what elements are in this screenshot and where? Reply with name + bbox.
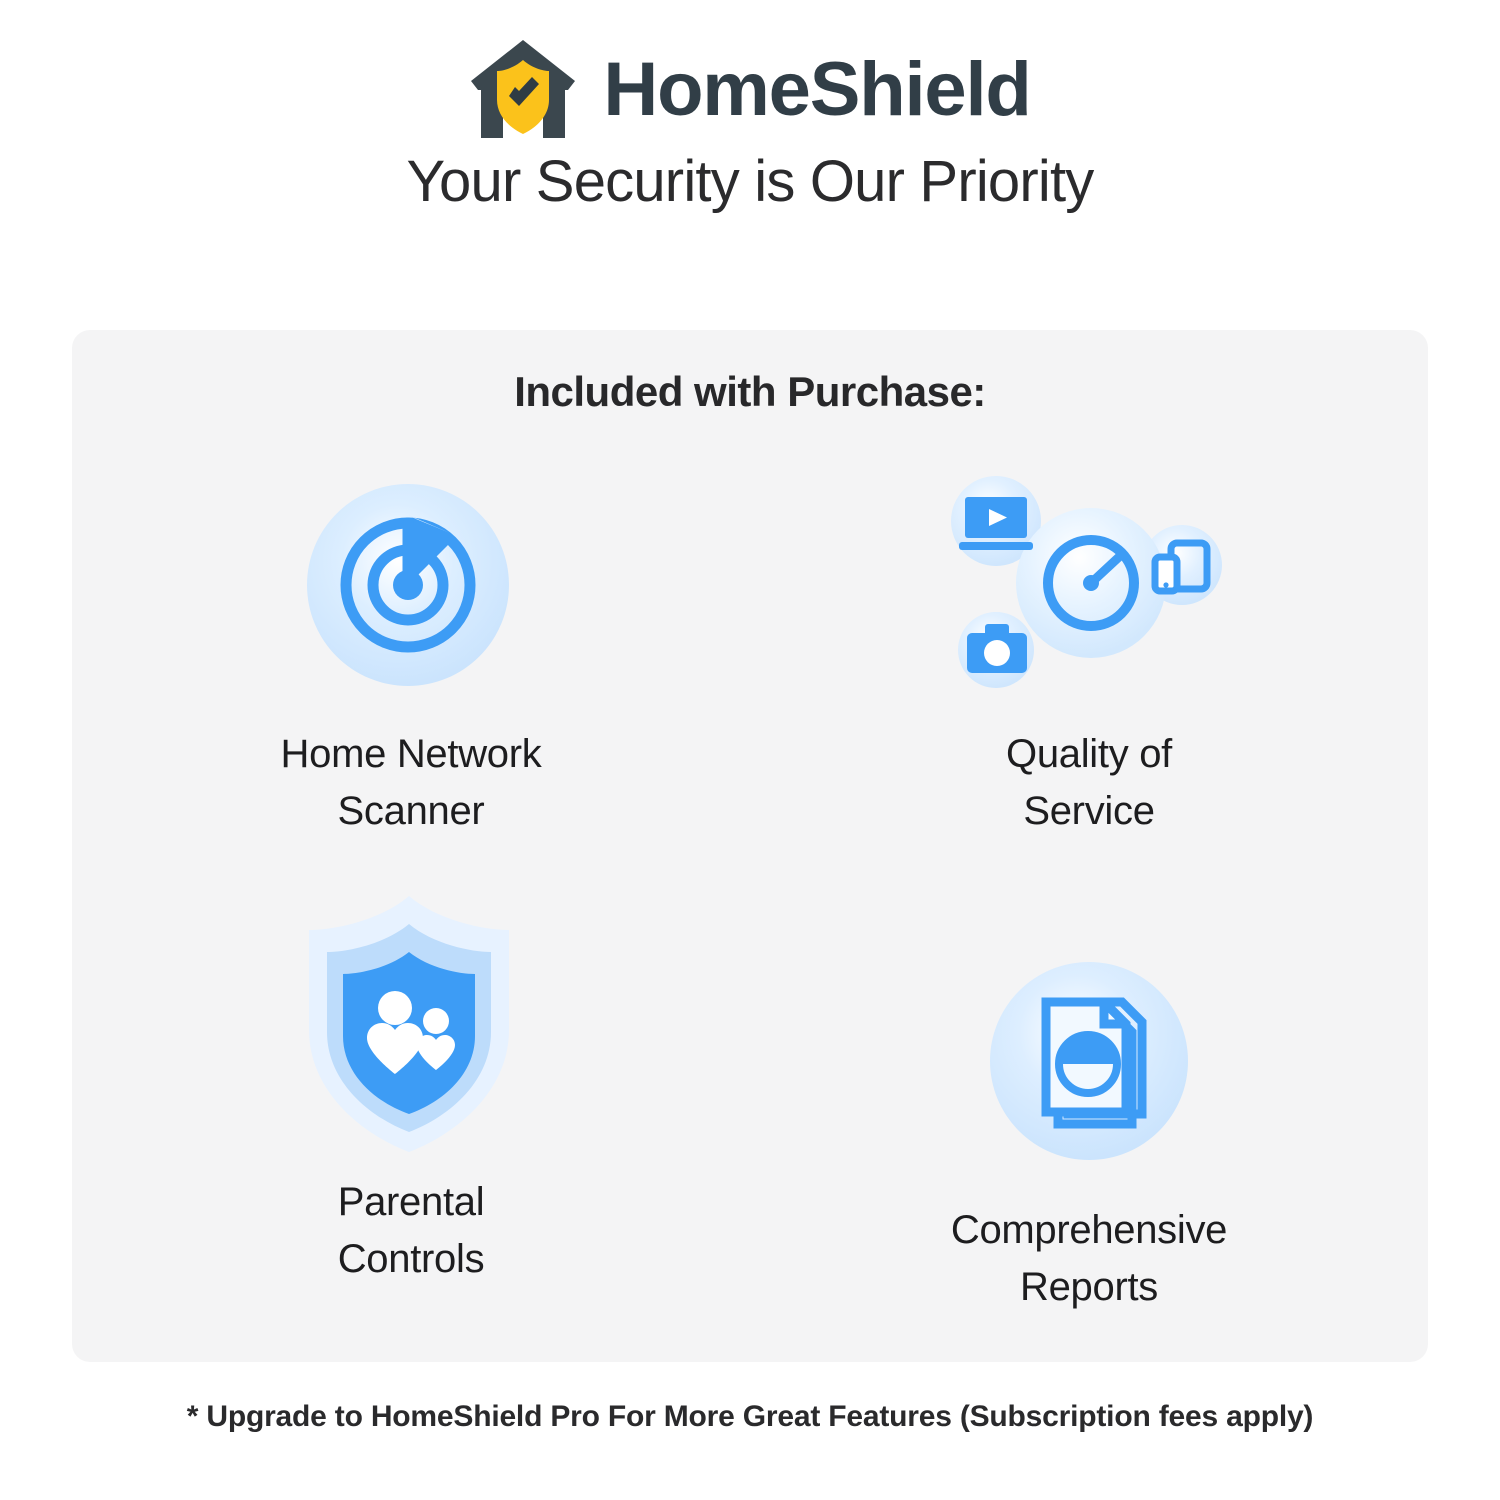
quality-of-service-cluster-icon (919, 460, 1259, 710)
house-shield-check-icon (469, 38, 577, 142)
page-tagline: Your Security is Our Priority (0, 152, 1500, 213)
laptop-video-icon (959, 497, 1033, 550)
features-grid: Home Network Scanner (72, 440, 1428, 1340)
feature-quality-of-service[interactable]: Quality of Service (750, 440, 1428, 890)
radar-scanner-icon (258, 460, 558, 710)
feature-home-network-scanner[interactable]: Home Network Scanner (72, 440, 750, 890)
feature-comprehensive-reports[interactable]: Comprehensive Reports (750, 890, 1428, 1340)
feature-label: Home Network Scanner (281, 726, 542, 840)
included-with-purchase-card: Included with Purchase: (72, 330, 1428, 1362)
feature-label: Quality of Service (1006, 726, 1172, 840)
shield-family-icon (259, 890, 559, 1158)
upgrade-footnote: * Upgrade to HomeShield Pro For More Gre… (0, 1400, 1500, 1434)
homeshield-feature-page: HomeShield Your Security is Our Priority… (0, 0, 1500, 1500)
feature-label: Comprehensive Reports (951, 1202, 1227, 1316)
brand-wordmark: HomeShield (603, 52, 1030, 128)
documents-pie-chart-icon (939, 936, 1239, 1186)
card-heading: Included with Purchase: (72, 330, 1428, 416)
feature-label: Parental Controls (338, 1174, 485, 1288)
feature-parental-controls[interactable]: Parental Controls (72, 890, 750, 1340)
brand-header: HomeShield (0, 0, 1500, 118)
